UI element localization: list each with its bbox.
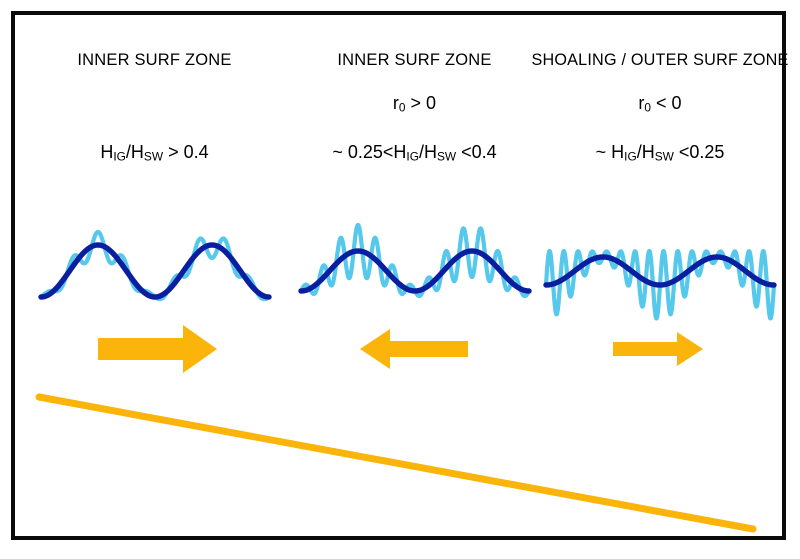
correlation-relation: < 0: [651, 93, 682, 113]
zone-title: INNER SURF ZONE: [27, 51, 282, 70]
ratio-h-ig: H: [393, 142, 406, 162]
correlation-relation: > 0: [406, 93, 437, 113]
ratio-sub-ig: IG: [624, 150, 637, 164]
ratio-label: ~ 0.25<HIG/HSW <0.4: [287, 142, 542, 164]
ratio-suffix: > 0.4: [163, 142, 209, 162]
beach-slope-line: [15, 367, 790, 542]
ratio-prefix: ~ 0.25<: [332, 142, 393, 162]
correlation-label: r0 < 0: [520, 93, 800, 115]
ratio-slash-h-sw: /H: [419, 142, 437, 162]
ratio-suffix: <0.25: [674, 142, 725, 162]
ratio-slash-h-sw: /H: [126, 142, 144, 162]
correlation-subscript: 0: [399, 101, 406, 115]
short-wave-curve: [301, 225, 529, 296]
ratio-label: HIG/HSW > 0.4: [27, 142, 282, 164]
zone-title: INNER SURF ZONE: [287, 51, 542, 70]
ratio-label: ~ HIG/HSW <0.25: [520, 142, 800, 164]
ratio-sub-ig: IG: [113, 150, 126, 164]
zone-title: SHOALING / OUTER SURF ZONE: [520, 51, 800, 70]
ratio-sub-ig: IG: [406, 150, 419, 164]
correlation-label: r0 > 0: [287, 93, 542, 115]
ratio-prefix: ~: [596, 142, 612, 162]
figure-frame: INNER SURF ZONE HIG/HSW > 0.4 INNER SURF…: [11, 11, 786, 540]
wave-panel-inner-surf-left: [27, 211, 282, 331]
ratio-sub-sw: SW: [655, 150, 674, 164]
ratio-h-ig: H: [100, 142, 113, 162]
ratio-slash-h-sw: /H: [637, 142, 655, 162]
wave-panel-inner-surf-middle: [287, 211, 542, 331]
ratio-suffix: <0.4: [456, 142, 497, 162]
ratio-sub-sw: SW: [144, 150, 163, 164]
ratio-sub-sw: SW: [437, 150, 456, 164]
ratio-h-ig: H: [611, 142, 624, 162]
wave-panel-shoaling-outer-surf: [520, 211, 800, 331]
